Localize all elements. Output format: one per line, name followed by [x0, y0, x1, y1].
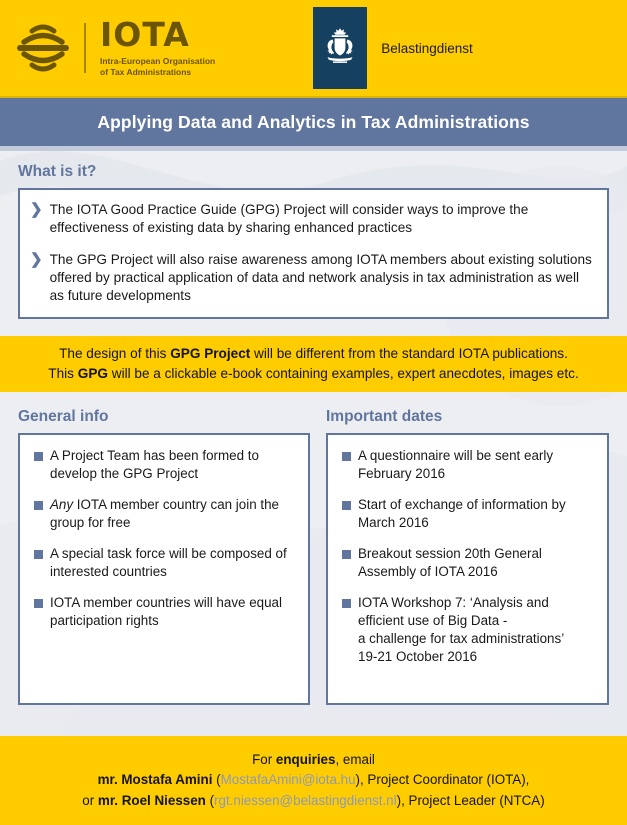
- contact-name-coordinator: mr. Mostafa Amini: [98, 772, 213, 787]
- chevron-right-icon: ❯: [30, 251, 43, 270]
- general-info-item-text: Any IOTA member country can join the gro…: [50, 496, 298, 532]
- date-line: A questionnaire will be sent early Febru…: [358, 448, 553, 481]
- footer-line1-pre: For: [252, 752, 276, 767]
- footer-line-1: For enquiries, email: [252, 750, 375, 770]
- iota-wave-svg: [14, 21, 72, 75]
- banner-line1-pre: The design of this: [59, 346, 170, 361]
- banner-line2-pre: This: [48, 366, 77, 381]
- email-link-coordinator[interactable]: MostafaAmini@iota.hu: [221, 772, 356, 787]
- general-info-item-text: IOTA member countries will have equal pa…: [50, 594, 298, 630]
- list-item: ❯ The IOTA Good Practice Guide (GPG) Pro…: [30, 201, 593, 237]
- date-line: a challenge for tax administrations’: [358, 631, 564, 646]
- main-content: What is it? ❯ The IOTA Good Practice Gui…: [0, 163, 627, 705]
- footer-line1-bold: enquiries: [276, 752, 336, 767]
- banner-line2-post: will be a clickable e-book containing ex…: [108, 366, 579, 381]
- dutch-coat-of-arms-icon: [320, 26, 360, 70]
- important-dates-panel: A questionnaire will be sent early Febru…: [326, 433, 609, 705]
- iota-wave-logo-icon: [14, 21, 72, 75]
- footer-line2-post: ), Project Coordinator (IOTA),: [356, 772, 530, 787]
- date-line: 19-21 October 2016: [358, 649, 477, 664]
- email-link-leader[interactable]: rgt.niessen@belastingdienst.nl: [214, 793, 397, 808]
- list-item: Breakout session 20th General Assembly o…: [338, 545, 597, 581]
- item-body: A Project Team has been formed to develo…: [50, 448, 259, 481]
- iota-logo-block: IOTA Intra-European Organisation of Tax …: [14, 18, 215, 77]
- list-item: Start of exchange of information by Marc…: [338, 496, 597, 532]
- list-item: A questionnaire will be sent early Febru…: [338, 447, 597, 483]
- paren-open: (: [206, 793, 214, 808]
- what-is-it-item-text: The GPG Project will also raise awarenes…: [50, 251, 593, 305]
- date-line: Breakout session 20th General Assembly o…: [358, 546, 542, 579]
- square-bullet-icon: [34, 550, 43, 559]
- footer-line3-pre: or: [82, 793, 98, 808]
- square-bullet-icon: [342, 599, 351, 608]
- what-is-it-heading: What is it?: [18, 163, 627, 181]
- iota-name: IOTA: [100, 18, 215, 51]
- footer-line1-post: , email: [335, 752, 374, 767]
- square-bullet-icon: [34, 599, 43, 608]
- square-bullet-icon: [34, 452, 43, 461]
- date-line: IOTA Workshop 7: ‘Analysis and efficient…: [358, 595, 549, 628]
- iota-wordmark: IOTA Intra-European Organisation of Tax …: [100, 18, 215, 77]
- list-item: A Project Team has been formed to develo…: [30, 447, 298, 483]
- banner-line1-post: will be different from the standard IOTA…: [250, 346, 568, 361]
- important-date-text: A questionnaire will be sent early Febru…: [358, 447, 597, 483]
- logo-divider: [84, 23, 86, 73]
- square-bullet-icon: [342, 452, 351, 461]
- what-is-it-panel: ❯ The IOTA Good Practice Guide (GPG) Pro…: [18, 188, 609, 319]
- important-date-text: Breakout session 20th General Assembly o…: [358, 545, 597, 581]
- general-info-item-text: A special task force will be composed of…: [50, 545, 298, 581]
- iota-subtitle-line1: Intra-European Organisation: [100, 56, 215, 67]
- list-item: IOTA member countries will have equal pa…: [30, 594, 298, 630]
- footer-line-2: mr. Mostafa Amini (MostafaAmini@iota.hu)…: [98, 770, 530, 790]
- important-date-text: IOTA Workshop 7: ‘Analysis and efficient…: [358, 594, 597, 666]
- title-underline: [0, 146, 627, 151]
- page-footer: For enquiries, email mr. Mostafa Amini (…: [0, 736, 627, 825]
- chevron-right-icon: ❯: [30, 201, 43, 220]
- page-title-bar: Applying Data and Analytics in Tax Admin…: [0, 96, 627, 146]
- general-info-panel: A Project Team has been formed to develo…: [18, 433, 310, 705]
- list-item: Any IOTA member country can join the gro…: [30, 496, 298, 532]
- square-bullet-icon: [342, 501, 351, 510]
- contact-name-leader: mr. Roel Niessen: [98, 793, 206, 808]
- list-item: A special task force will be composed of…: [30, 545, 298, 581]
- iota-subtitle-line2: of Tax Administrations: [100, 67, 215, 78]
- list-item: IOTA Workshop 7: ‘Analysis and efficient…: [338, 594, 597, 666]
- list-item: ❯ The GPG Project will also raise awaren…: [30, 251, 593, 305]
- belastingdienst-label: Belastingdienst: [381, 7, 473, 89]
- banner-line-1: The design of this GPG Project will be d…: [10, 344, 617, 363]
- general-info-heading: General info: [18, 408, 310, 426]
- general-info-item-text: A Project Team has been formed to develo…: [50, 447, 298, 483]
- footer-line-3: or mr. Roel Niessen (rgt.niessen@belasti…: [82, 791, 544, 811]
- page-header: IOTA Intra-European Organisation of Tax …: [0, 0, 627, 96]
- square-bullet-icon: [342, 550, 351, 559]
- important-dates-heading: Important dates: [326, 408, 609, 426]
- important-date-text: Start of exchange of information by Marc…: [358, 496, 597, 532]
- square-bullet-icon: [34, 501, 43, 510]
- gpg-highlight-banner: The design of this GPG Project will be d…: [0, 336, 627, 392]
- footer-line3-post: ), Project Leader (NTCA): [397, 793, 545, 808]
- italic-lead: Any: [50, 497, 73, 512]
- banner-line-2: This GPG will be a clickable e-book cont…: [10, 364, 617, 383]
- iota-subtitle: Intra-European Organisation of Tax Admin…: [100, 56, 215, 77]
- item-body: IOTA member country can join the group f…: [50, 497, 279, 530]
- what-is-it-item-text: The IOTA Good Practice Guide (GPG) Proje…: [50, 201, 593, 237]
- item-body: A special task force will be composed of…: [50, 546, 287, 579]
- belastingdienst-navy-bar: [313, 7, 367, 89]
- item-body: IOTA member countries will have equal pa…: [50, 595, 282, 628]
- page-title: Applying Data and Analytics in Tax Admin…: [97, 112, 529, 133]
- paren-open: (: [212, 772, 220, 787]
- belastingdienst-logo-block: Belastingdienst: [313, 7, 473, 89]
- date-line: Start of exchange of information by Marc…: [358, 497, 566, 530]
- banner-line1-bold: GPG Project: [170, 346, 250, 361]
- banner-line2-bold: GPG: [78, 366, 108, 381]
- two-column-section: General info A Project Team has been for…: [0, 396, 627, 705]
- important-dates-column: Important dates A questionnaire will be …: [318, 396, 627, 705]
- general-info-column: General info A Project Team has been for…: [0, 396, 318, 705]
